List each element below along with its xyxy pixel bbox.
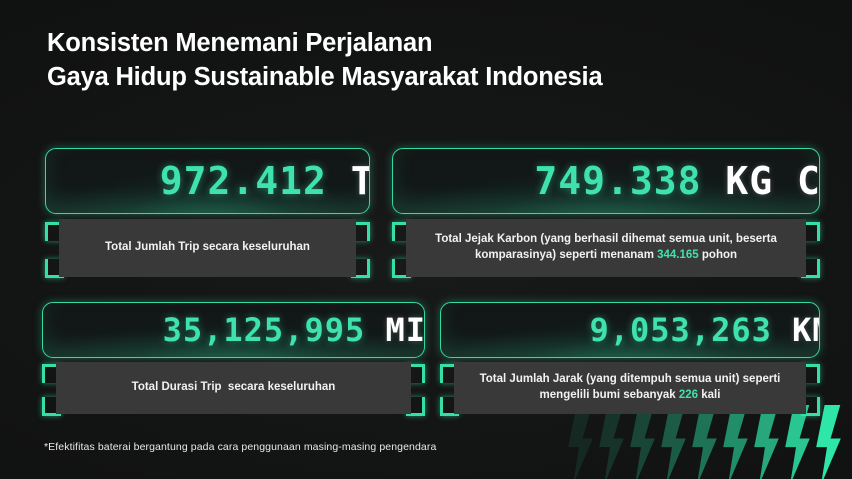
stat-value-text-mins: 35,125,995 MINS (42, 302, 425, 358)
stat-caption-wrap-mins: Total Durasi Trip secara keseluruhan (42, 358, 425, 420)
stat-space-km (772, 311, 792, 349)
caption-highlight: 344.165 (657, 249, 699, 261)
stat-card-mins: 35,125,995 MINS Total Durasi Trip secara… (42, 302, 425, 420)
caption-after: kali (698, 389, 720, 401)
stat-caption-km: Total Jumlah Jarak (yang ditempuh semua … (454, 362, 806, 414)
stat-card-co2: 749.338 KG CO2 Total Jejak Karbon (yang … (392, 148, 820, 284)
infographic-page: Konsisten Menemani Perjalanan Gaya Hidup… (0, 0, 852, 479)
stat-caption-wrap-co2: Total Jejak Karbon (yang berhasil dihema… (392, 214, 820, 284)
stat-unit-label-mins: MINS (386, 311, 426, 349)
stat-value-pill-trip: 972.412 TRIP (45, 148, 370, 214)
stat-number-mins: 35,125,995 (163, 311, 366, 349)
stat-unit-trip (327, 159, 351, 203)
caption-after: pohon (699, 249, 737, 261)
stat-value-text-co2: 749.338 KG CO2 (392, 148, 820, 214)
stat-value-pill-co2: 749.338 KG CO2 (392, 148, 820, 214)
caption-before: Total Jumlah Trip secara keseluruhan (105, 241, 310, 253)
caption-before: Total Jumlah Jarak (yang ditempuh semua … (480, 373, 781, 401)
stat-number-km: 9,053,263 (589, 311, 771, 349)
caption-highlight: 226 (679, 389, 698, 401)
caption-text: Total Jumlah Jarak (yang ditempuh semua … (462, 372, 798, 403)
stat-number-co2: 749.338 (534, 159, 701, 203)
stat-card-trip: 972.412 TRIP Total Jumlah Trip secara ke… (45, 148, 370, 284)
stat-caption-wrap-trip: Total Jumlah Trip secara keseluruhan (45, 214, 370, 284)
caption-text: Total Jejak Karbon (yang berhasil dihema… (414, 232, 798, 263)
caption-before: Total Durasi Trip secara keseluruhan (132, 381, 336, 393)
stat-caption-mins: Total Durasi Trip secara keseluruhan (56, 362, 411, 414)
stat-value-pill-mins: 35,125,995 MINS (42, 302, 425, 358)
page-title: Konsisten Menemani Perjalanan Gaya Hidup… (47, 26, 602, 94)
stat-space-mins (365, 311, 385, 349)
stat-unit-label-trip: TRIP (351, 159, 370, 203)
stat-unit-label-km: KM (792, 311, 820, 349)
stat-value-text-trip: 972.412 TRIP (45, 148, 370, 214)
stat-value-pill-km: 9,053,263 KM (440, 302, 820, 358)
stat-value-text-km: 9,053,263 KM (440, 302, 820, 358)
stat-caption-trip: Total Jumlah Trip secara keseluruhan (59, 219, 356, 277)
caption-text: Total Jumlah Trip secara keseluruhan (105, 240, 310, 256)
stat-unit-label-co2: KG CO2 (725, 159, 820, 203)
stat-caption-co2: Total Jejak Karbon (yang berhasil dihema… (406, 219, 806, 277)
stat-card-km: 9,053,263 KM Total Jumlah Jarak (yang di… (440, 302, 820, 420)
caption-text: Total Durasi Trip secara keseluruhan (132, 380, 336, 396)
stat-number-trip: 972.412 (160, 159, 327, 203)
stat-caption-wrap-km: Total Jumlah Jarak (yang ditempuh semua … (440, 358, 820, 420)
stat-space-co2 (702, 159, 726, 203)
footnote-text: *Efektifitas baterai bergantung pada car… (44, 441, 436, 453)
